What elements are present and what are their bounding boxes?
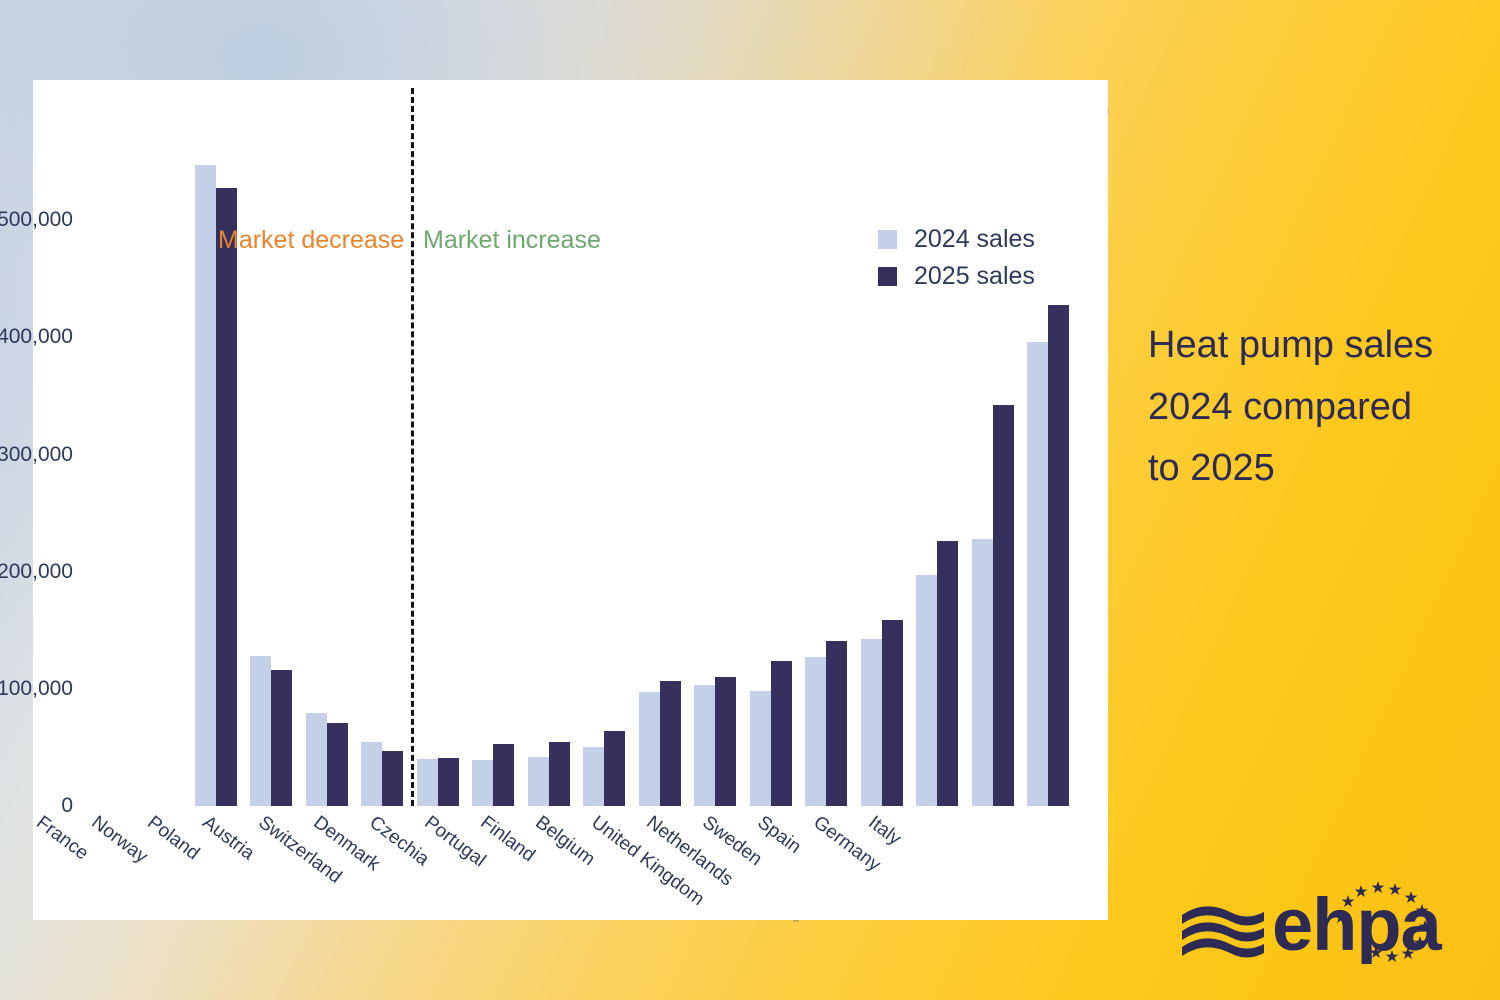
x-axis-tick-label: Norway xyxy=(87,812,152,868)
bar-2025 xyxy=(493,744,514,806)
bar-2025 xyxy=(604,731,625,806)
bar-group xyxy=(632,150,688,806)
bar-2025 xyxy=(826,641,847,806)
bar-group xyxy=(688,150,744,806)
bar-2025 xyxy=(715,677,736,806)
chart-legend: 2024 sales 2025 sales xyxy=(878,225,1035,299)
annotation-market-decrease: Market decrease xyxy=(218,226,404,255)
bar-2024 xyxy=(861,639,882,807)
bar-2024 xyxy=(417,759,438,806)
bar-2024 xyxy=(472,760,493,806)
bar-2025 xyxy=(882,620,903,806)
bar-2025 xyxy=(1048,305,1069,806)
plot-area: Market decrease Market increase 2024 sal… xyxy=(33,80,1108,920)
y-axis-tick-label: 300,000 xyxy=(0,443,73,467)
x-axis-tick-label: Austria xyxy=(198,812,258,865)
bar-2025 xyxy=(216,188,237,807)
bar-2024 xyxy=(750,691,771,806)
bar-2025 xyxy=(937,541,958,806)
svg-text:ehpa: ehpa xyxy=(1272,883,1443,964)
bar-2024 xyxy=(805,657,826,806)
bar-2024 xyxy=(528,757,549,806)
x-axis-tick-label: Portugal xyxy=(420,812,490,872)
annotation-market-increase: Market increase xyxy=(423,226,601,255)
bar-2024 xyxy=(583,747,604,806)
bar-2025 xyxy=(271,670,292,806)
ehpa-logo: ehpa xyxy=(1180,868,1450,964)
bar-2025 xyxy=(660,681,681,806)
legend-label-2024: 2024 sales xyxy=(914,225,1035,254)
bar-2025 xyxy=(438,758,459,806)
bar-2024 xyxy=(1027,342,1048,806)
x-axis-tick-label: France xyxy=(32,812,92,865)
bar-2024 xyxy=(361,742,382,806)
bar-2024 xyxy=(972,539,993,806)
y-axis-tick-label: 0 xyxy=(0,794,73,818)
bar-2024 xyxy=(694,685,715,806)
legend-swatch-2024 xyxy=(878,230,897,249)
bar-2024 xyxy=(916,575,937,806)
x-axis-tick-label: Italy xyxy=(864,812,905,851)
y-axis-tick-label: 100,000 xyxy=(0,677,73,701)
legend-label-2025: 2025 sales xyxy=(914,262,1035,291)
bar-2025 xyxy=(549,742,570,806)
bar-2024 xyxy=(195,165,216,806)
bar-2024 xyxy=(306,713,327,806)
bar-2025 xyxy=(993,405,1014,806)
y-axis-tick-label: 500,000 xyxy=(0,208,73,232)
x-axis-tick-label: Poland xyxy=(143,812,203,865)
bar-2024 xyxy=(639,692,660,806)
bar-2025 xyxy=(327,723,348,806)
y-axis-tick-label: 200,000 xyxy=(0,560,73,584)
legend-swatch-2025 xyxy=(878,267,897,286)
bar-2025 xyxy=(771,661,792,806)
bar-2025 xyxy=(382,751,403,806)
chart-panel: Market decrease Market increase 2024 sal… xyxy=(33,80,1108,920)
page-title: Heat pump sales 2024 compared to 2025 xyxy=(1148,315,1438,500)
bar-group xyxy=(743,150,799,806)
bar-group xyxy=(799,150,855,806)
y-axis-tick-label: 400,000 xyxy=(0,325,73,349)
bar-2024 xyxy=(250,656,271,806)
x-axis-tick-label: Belgium xyxy=(531,812,599,871)
legend-item-2025: 2025 sales xyxy=(878,262,1035,291)
legend-item-2024: 2024 sales xyxy=(878,225,1035,254)
